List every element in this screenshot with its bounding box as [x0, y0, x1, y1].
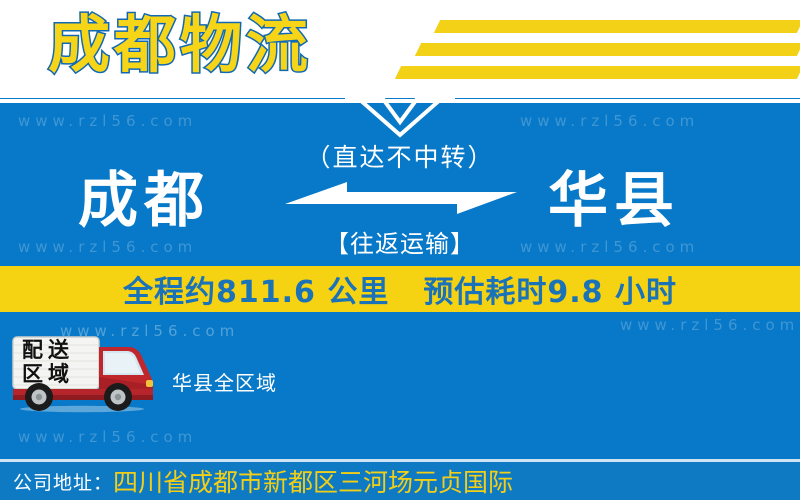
header-stripe-1 [434, 20, 800, 33]
address-label: 公司地址： [13, 468, 113, 495]
logistics-banner: 成都物流 成都 华县 （直达不中转） 【往返运输】 全程约811.6 公里 预估… [0, 0, 800, 500]
delivery-truck-icon [8, 333, 156, 413]
chevron-down-icon [345, 96, 455, 138]
distance-text: 全程约811.6 公里 [123, 267, 389, 311]
direct-note: （直达不中转） [0, 138, 800, 174]
header-stripe-2 [415, 43, 800, 56]
brand-title: 成都物流 [48, 6, 312, 84]
coverage-area-text: 华县全区域 [172, 367, 277, 396]
duration-text: 预估耗时9.8 小时 [423, 267, 677, 311]
round-trip-note: 【往返运输】 [0, 224, 800, 259]
bidirectional-arrow-icon [285, 178, 517, 220]
address-bar: 公司地址： 四川省成都市新都区三河场元贞国际 [0, 459, 800, 500]
stats-band: 全程约811.6 公里 预估耗时9.8 小时 [0, 266, 800, 312]
company-address: 四川省成都市新都区三河场元贞国际 [113, 463, 513, 499]
banner-header: 成都物流 [0, 0, 800, 98]
header-stripe-3 [395, 66, 800, 79]
